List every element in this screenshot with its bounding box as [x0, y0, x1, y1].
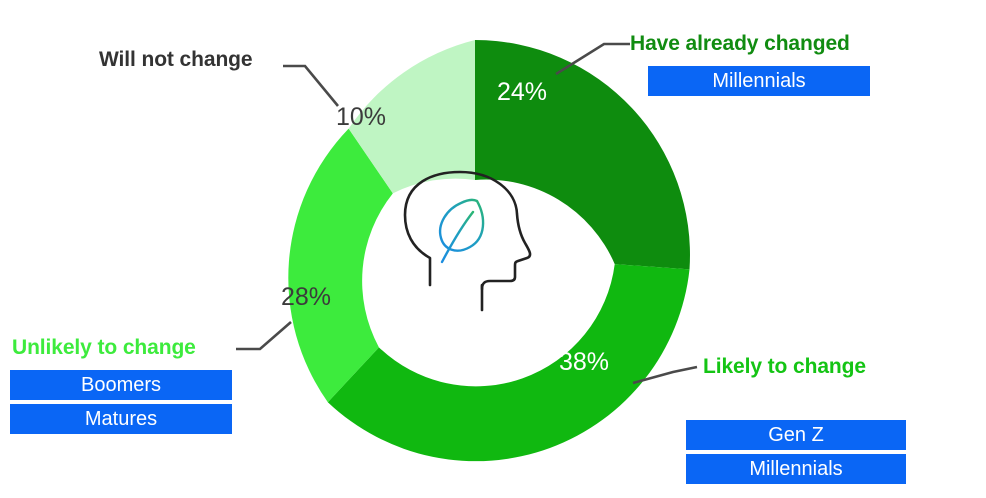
slice-value-likely-to-change: 38%: [559, 348, 609, 377]
badge-gen-z-likely: Gen Z: [686, 420, 906, 450]
donut-chart: 24% 38% 28% 10% Have already changed Mil…: [0, 0, 986, 498]
slice-value-will-not-change: 10%: [336, 103, 386, 132]
badge-millennials-likely: Millennials: [686, 454, 906, 484]
slice-value-unlikely-to-change: 28%: [281, 283, 331, 312]
leader-line-will-not-change: [283, 66, 338, 106]
head-outline-icon: [405, 172, 530, 289]
callout-title-will-not-change: Will not change: [99, 48, 252, 72]
badge-millennials-already: Millennials: [648, 66, 870, 96]
callout-title-have-already-changed: Have already changed: [630, 32, 850, 56]
head-with-leaf-icon: [405, 172, 530, 310]
badge-matures-unlikely: Matures: [10, 404, 232, 434]
badge-boomers-unlikely: Boomers: [10, 370, 232, 400]
leaf-vein-icon: [442, 212, 473, 262]
slice-value-have-already-changed: 24%: [497, 78, 547, 107]
callout-title-likely-to-change: Likely to change: [703, 355, 866, 379]
leader-line-unlikely-to-change: [236, 322, 291, 349]
leaf-icon: [440, 200, 483, 251]
slice-likely-to-change: [328, 264, 690, 461]
callout-title-unlikely-to-change: Unlikely to change: [12, 336, 196, 360]
